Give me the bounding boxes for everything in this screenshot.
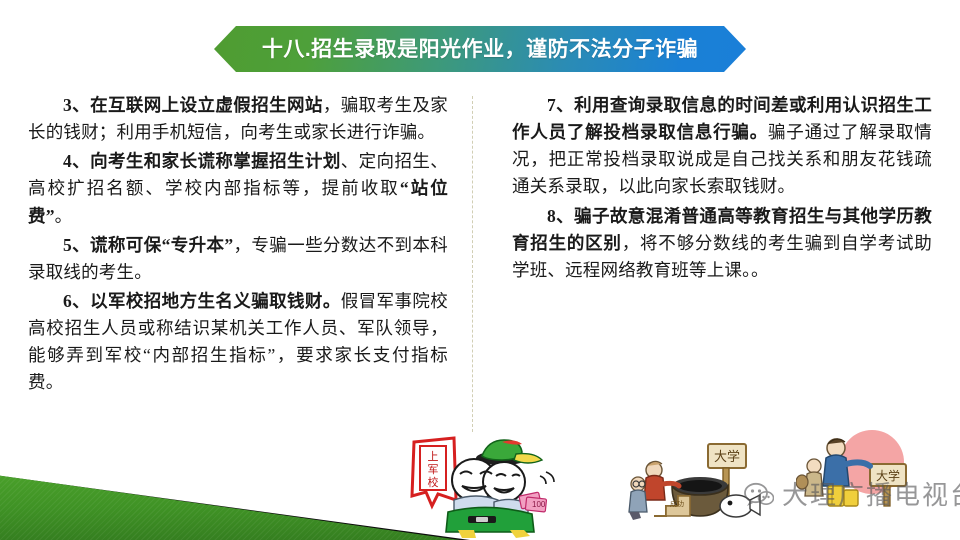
title-banner: 十八.招生录取是阳光作业，谨防不法分子诈骗 — [214, 26, 746, 72]
right-column: 7、利用查询录取信息的时间差或利用认识招生工作人员了解投档录取信息行骗。骗子通过… — [512, 92, 932, 286]
item-index: 4、 — [63, 151, 90, 171]
item-lead: 向考生和家长谎称掌握招生计划 — [90, 151, 341, 171]
item-index: 7、 — [547, 95, 574, 115]
item-index: 5、 — [63, 235, 90, 255]
list-item: 5、谎称可保“专升本”，专骗一些分数达不到本科录取线的考生。 — [28, 232, 448, 286]
svg-text:上: 上 — [428, 450, 439, 463]
watermark: 大理广播电视台 — [744, 482, 960, 508]
item-index: 6、 — [63, 291, 90, 311]
wechat-icon — [744, 482, 774, 508]
list-item: 7、利用查询录取信息的时间差或利用认识招生工作人员了解投档录取信息行骗。骗子通过… — [512, 92, 932, 201]
item-index: 8、 — [547, 206, 574, 226]
recruit-banner-icon: 上 军 校 — [412, 438, 456, 506]
item-lead: 在互联网上设立虚假招生网站 — [90, 95, 323, 115]
left-column: 3、在互联网上设立虚假招生网站，骗取考生及家长的钱财；利用手机短信，向考生或家长… — [28, 92, 448, 398]
list-item: 4、向考生和家长谎称掌握招生计划、定向招生、高校扩招名额、学校内部指标等，提前收… — [28, 148, 448, 229]
svg-text:军: 军 — [428, 463, 439, 476]
item-rest-2: 。 — [55, 206, 73, 226]
watermark-text: 大理广播电视台 — [782, 482, 960, 508]
svg-text:100: 100 — [532, 500, 546, 509]
item-lead: 以军校招地方生名义骗取钱财。 — [90, 291, 341, 311]
military-school-scam-cartoon: 上 军 校 — [398, 432, 568, 538]
university-trap-cartoon: 大学 成功 — [624, 440, 764, 532]
content-columns: 3、在互联网上设立虚假招生网站，骗取考生及家长的钱财；利用手机短信，向考生或家长… — [0, 92, 960, 432]
money-icon: 100 — [519, 492, 547, 512]
svg-text:大学: 大学 — [714, 449, 740, 464]
item-lead: 谎称可保“专升本” — [90, 235, 233, 255]
title-banner-shape: 十八.招生录取是阳光作业，谨防不法分子诈骗 — [214, 26, 746, 72]
slide-canvas: 十八.招生录取是阳光作业，谨防不法分子诈骗 3、在互联网上设立虚假招生网站，骗取… — [0, 0, 960, 540]
list-item: 8、骗子故意混淆普通高等教育招生与其他学历教育招生的区别，将不够分数线的考生骗到… — [512, 203, 932, 284]
list-item: 6、以军校招地方生名义骗取钱财。假冒军事院校高校招生人员或称结识某机关工作人员、… — [28, 288, 448, 397]
svg-text:成功: 成功 — [670, 499, 684, 508]
page-title: 十八.招生录取是阳光作业，谨防不法分子诈骗 — [262, 39, 698, 60]
svg-text:校: 校 — [428, 475, 439, 489]
item-index: 3、 — [63, 95, 90, 115]
list-item: 3、在互联网上设立虚假招生网站，骗取考生及家长的钱财；利用手机短信，向考生或家长… — [28, 92, 448, 146]
